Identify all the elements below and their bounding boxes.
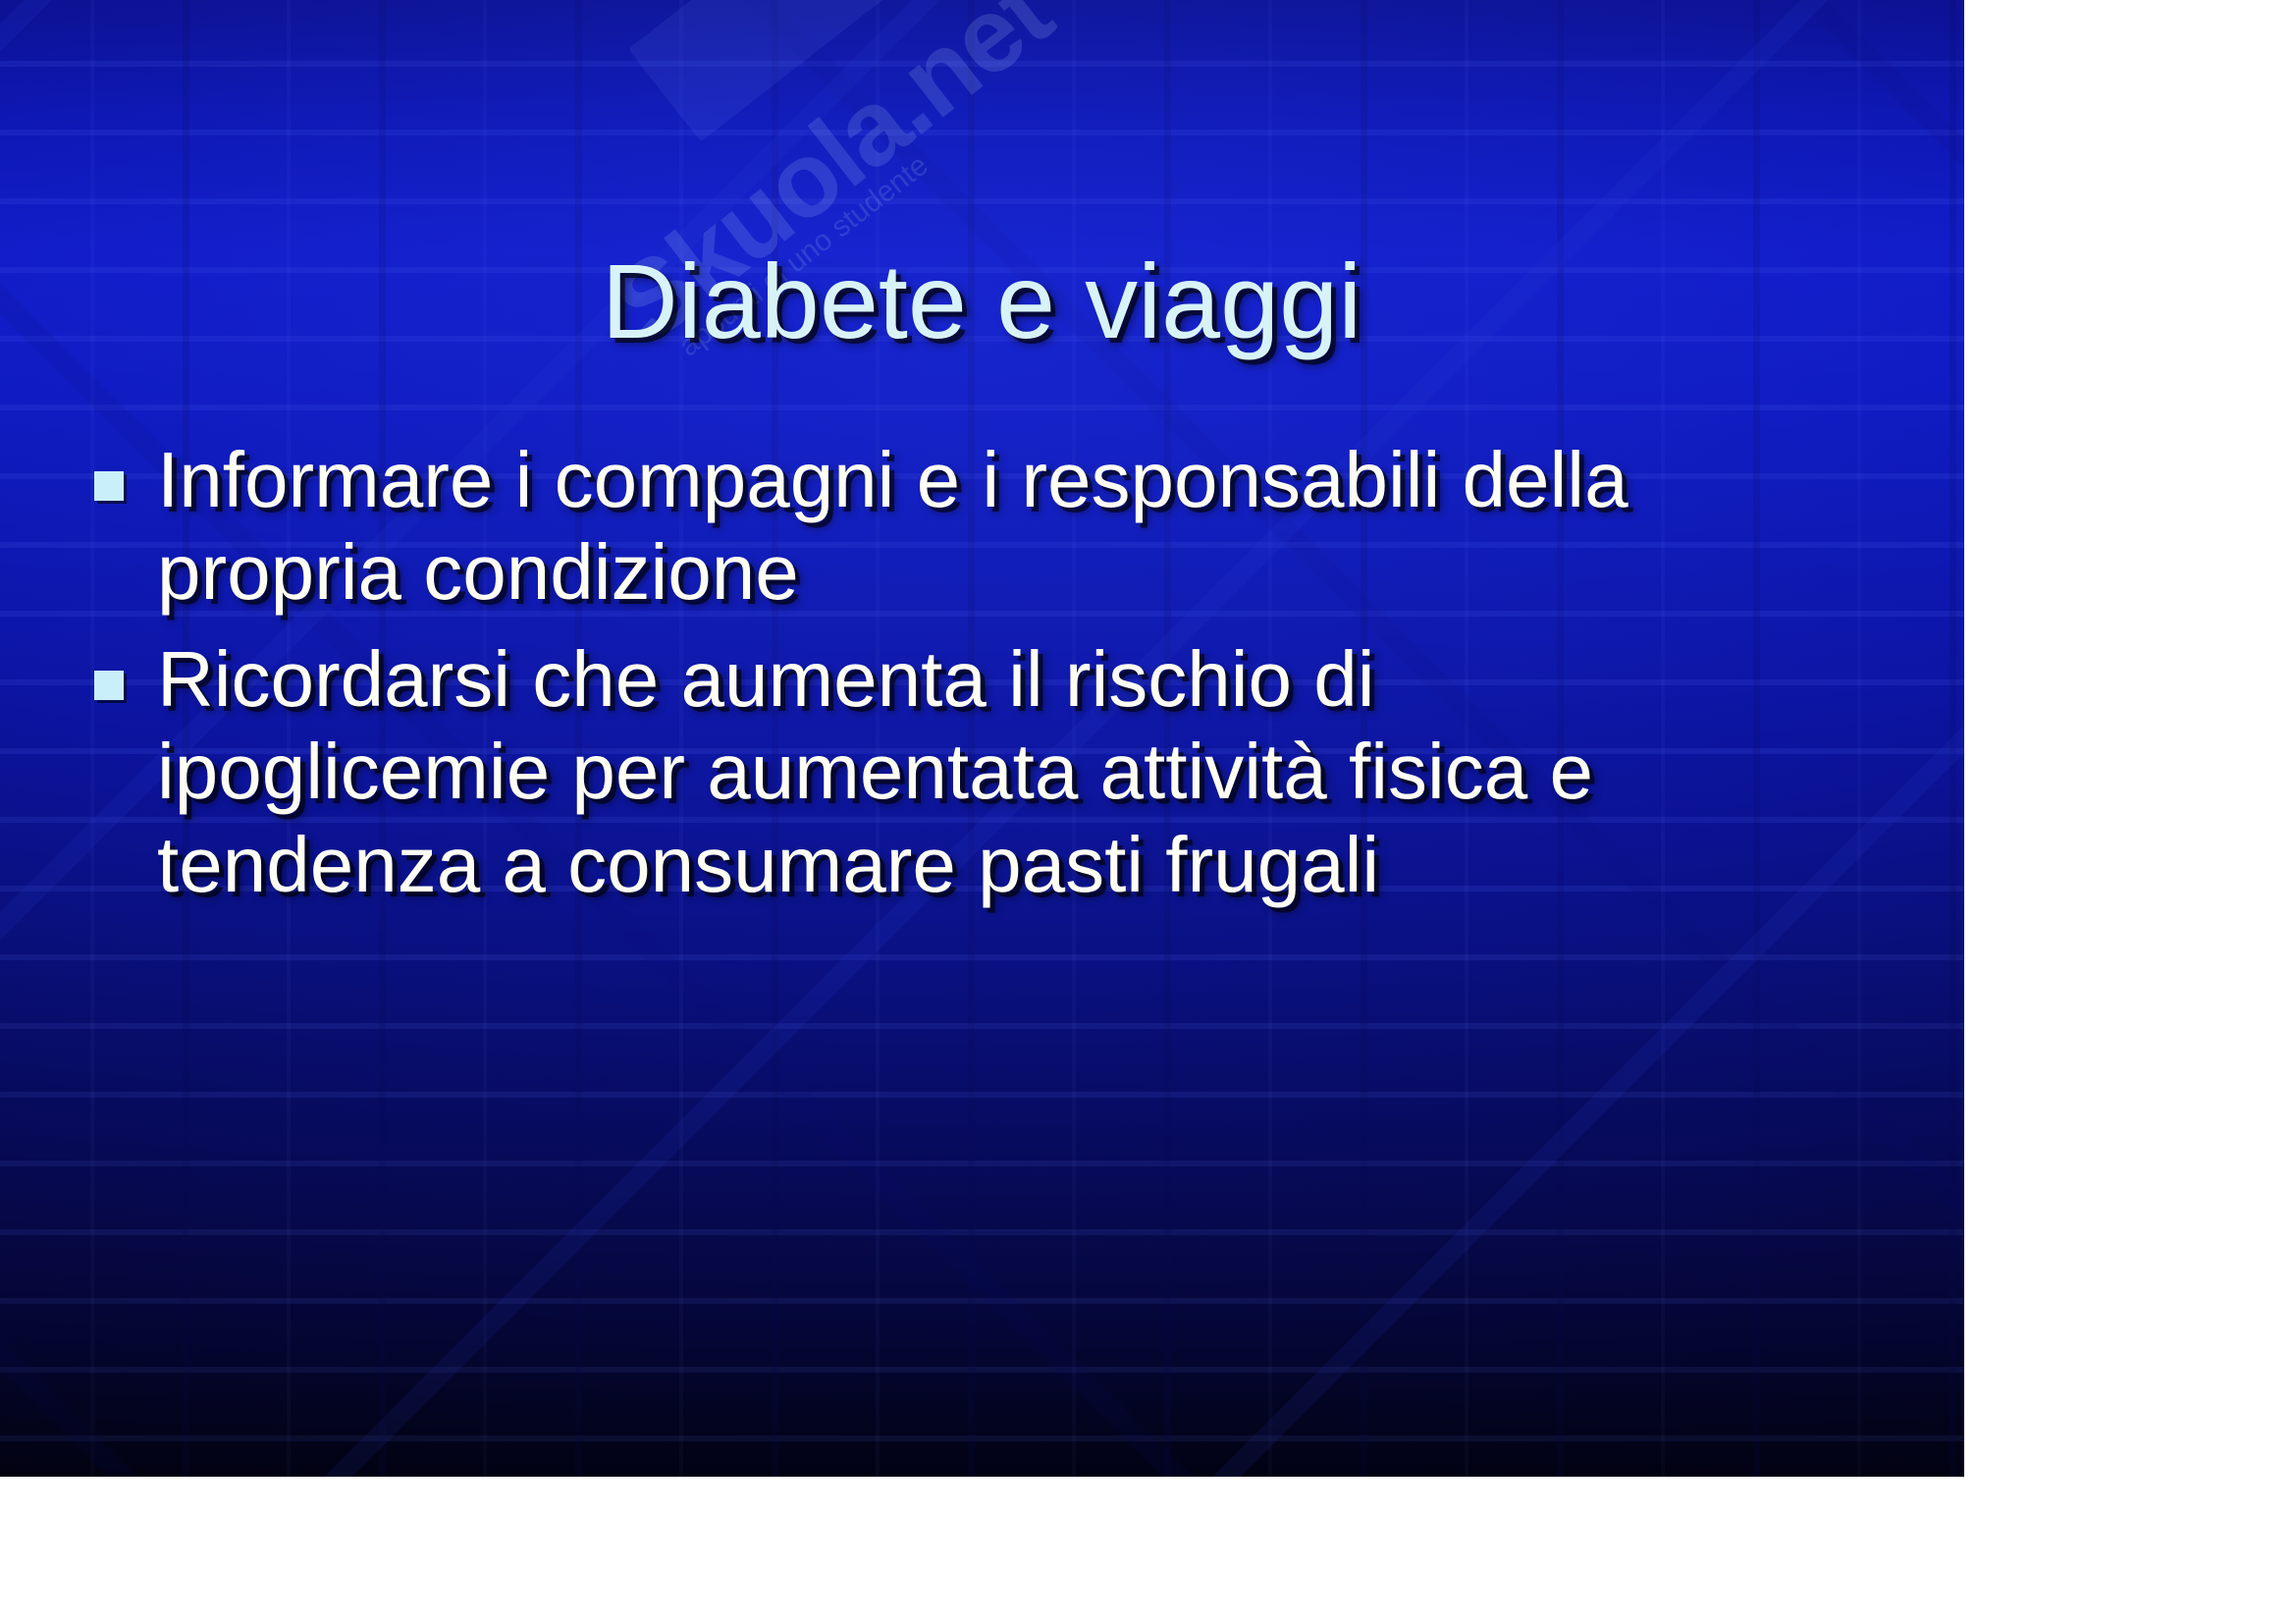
bullet-text: Ricordarsi che aumenta il rischio di ipo…: [157, 633, 1783, 911]
slide-body-bullet-list: Informare i compagni e i responsabili de…: [94, 434, 1783, 925]
slide-title: Diabete e viaggi: [118, 245, 1845, 356]
bullet-text: Informare i compagni e i responsabili de…: [157, 434, 1783, 620]
presentation-slide: Skuola.net appunti di uno studente Diabe…: [0, 0, 1964, 1477]
square-bullet-icon: [94, 471, 124, 501]
bullet-item: Ricordarsi che aumenta il rischio di ipo…: [94, 633, 1783, 911]
square-bullet-icon: [94, 671, 124, 700]
bullet-item: Informare i compagni e i responsabili de…: [94, 434, 1783, 620]
